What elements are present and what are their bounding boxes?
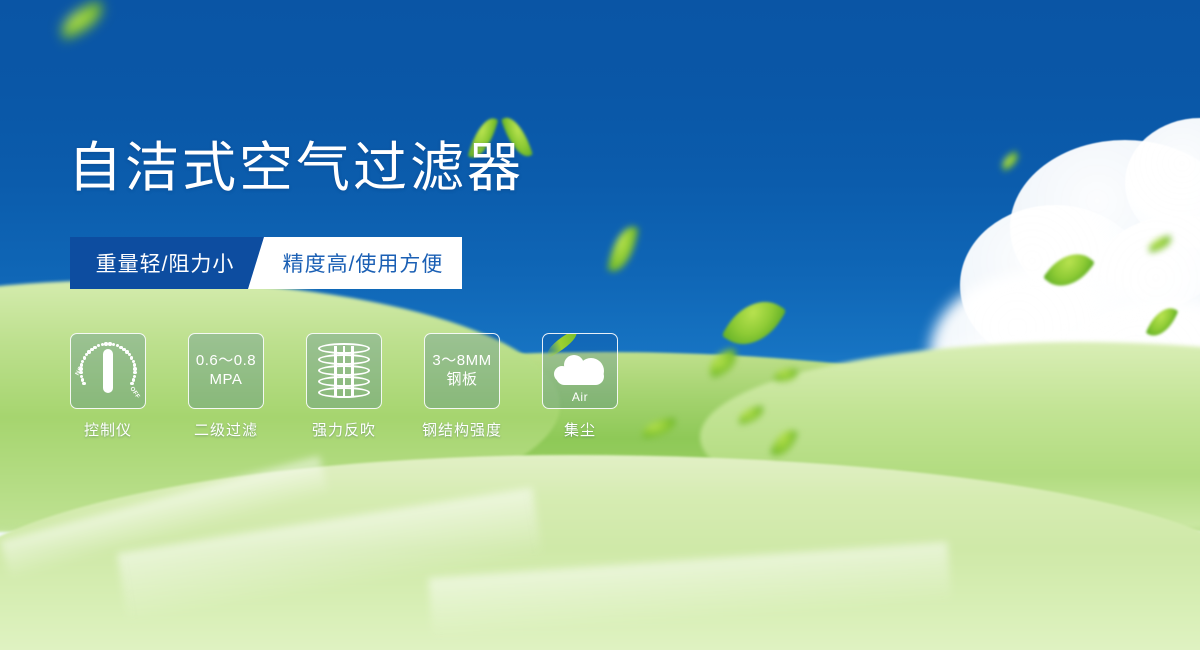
thickness-value: 3～8MM bbox=[432, 352, 491, 371]
thickness-material: 钢板 bbox=[432, 371, 491, 390]
gauge-tick-dot bbox=[81, 360, 84, 363]
feature-box-pressure: 0.6～0.8 MPA bbox=[188, 333, 264, 409]
cloud-air-icon: Air bbox=[550, 342, 610, 400]
feature-item-dust-collection[interactable]: Air 集尘 bbox=[542, 333, 618, 440]
gauge-needle bbox=[103, 349, 113, 393]
banner-root: 自洁式空气过滤器 重量轻/阻力小 精度高/使用方便 NO OFF 控制仪 0.6… bbox=[0, 0, 1200, 650]
gauge-tick-dot bbox=[79, 367, 82, 370]
thickness-text-icon: 3～8MM 钢板 bbox=[432, 352, 491, 390]
gauge-tick-dot bbox=[79, 371, 82, 374]
feature-item-strong-blowback[interactable]: 强力反吹 bbox=[306, 333, 382, 440]
gauge-label-off: OFF bbox=[128, 386, 140, 400]
feature-item-controller[interactable]: NO OFF 控制仪 bbox=[70, 333, 146, 440]
feature-caption: 集尘 bbox=[564, 419, 596, 440]
pressure-text-icon: 0.6～0.8 MPA bbox=[196, 352, 256, 390]
gauge-tick-dot bbox=[82, 382, 85, 385]
feature-box-coil bbox=[306, 333, 382, 409]
subtitle-bar: 重量轻/阻力小 精度高/使用方便 bbox=[70, 237, 462, 289]
feature-caption: 强力反吹 bbox=[312, 419, 376, 440]
gauge-tick-dot bbox=[83, 356, 86, 359]
feature-caption: 二级过滤 bbox=[194, 419, 258, 440]
page-title: 自洁式空气过滤器 bbox=[68, 140, 524, 197]
feature-caption: 钢结构强度 bbox=[422, 419, 502, 440]
gauge-icon: NO OFF bbox=[77, 340, 139, 402]
gauge-tick-dot bbox=[112, 343, 115, 346]
feature-box-air: Air bbox=[542, 333, 618, 409]
air-label: Air bbox=[550, 390, 610, 404]
feature-list: NO OFF 控制仪 0.6～0.8 MPA 二级过滤 bbox=[70, 333, 618, 440]
gauge-tick-dot bbox=[133, 371, 136, 374]
feature-caption: 控制仪 bbox=[84, 419, 132, 440]
filter-coil-icon bbox=[318, 343, 370, 399]
leaf-streak-icon bbox=[544, 333, 580, 358]
subtitle-left-panel: 重量轻/阻力小 bbox=[70, 237, 266, 289]
feature-box-controller: NO OFF bbox=[70, 333, 146, 409]
gauge-tick-dot bbox=[97, 344, 100, 347]
pressure-value: 0.6～0.8 bbox=[196, 352, 256, 371]
feature-item-steel-strength[interactable]: 3～8MM 钢板 钢结构强度 bbox=[424, 333, 500, 440]
gauge-tick-dot bbox=[130, 382, 133, 385]
feature-item-two-stage-filter[interactable]: 0.6～0.8 MPA 二级过滤 bbox=[188, 333, 264, 440]
feature-box-thickness: 3～8MM 钢板 bbox=[424, 333, 500, 409]
subtitle-right-panel: 精度高/使用方便 bbox=[248, 237, 462, 289]
pressure-unit: MPA bbox=[196, 371, 256, 390]
